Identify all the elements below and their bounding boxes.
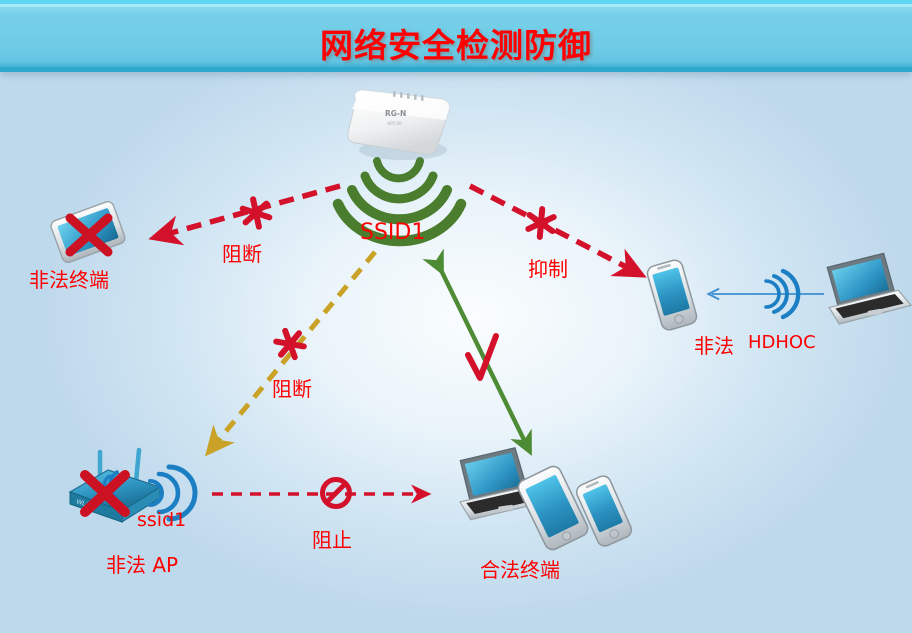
- node-label-illegal-terminal: 非法终端: [29, 264, 109, 293]
- link-adhoc: [712, 271, 824, 317]
- red-check-icon: [468, 336, 496, 378]
- node-label-rogue-ssid: ssid1: [137, 509, 186, 531]
- red-asterisk-icon: [528, 209, 553, 237]
- blue-wifi-arcs-icon: [766, 271, 798, 317]
- central-ap-icon: RG-N AP530: [348, 90, 450, 160]
- svg-text:RG-N: RG-N: [385, 109, 406, 118]
- illegal-adhoc-phone-icon: [646, 258, 699, 331]
- node-label-adhoc-name: HDHOC: [748, 332, 816, 353]
- red-x-icon: [85, 475, 125, 512]
- node-label-legal-terminals: 合法终端: [480, 554, 560, 583]
- svg-text:AP530: AP530: [387, 121, 402, 127]
- link-allow-legal: [440, 268, 528, 448]
- diagram-vector-layer: RG-N AP530: [0, 0, 912, 633]
- adhoc-laptop-icon: [822, 250, 912, 325]
- link-block-terminal: [160, 186, 340, 236]
- link-label-block-lower-left: 阻断: [272, 373, 312, 402]
- red-x-icon: [70, 218, 108, 252]
- link-prevent-rogue-to-legal: [212, 480, 424, 507]
- red-asterisk-icon: [276, 331, 304, 357]
- illegal-terminal-icon: [49, 200, 126, 264]
- diagram-canvas: 网络安全检测防御: [0, 0, 912, 633]
- red-asterisk-icon: [243, 199, 270, 226]
- link-label-prevent-bottom: 阻止: [312, 524, 352, 553]
- node-label-illegal-adhoc: 非法: [694, 330, 734, 359]
- node-label-rogue-ap: 非法 AP: [106, 549, 178, 578]
- svg-text:WLAN: WLAN: [75, 498, 94, 510]
- link-block-rogue-ap: [212, 252, 375, 448]
- no-entry-sign-icon: [323, 480, 350, 507]
- link-label-suppress-right: 抑制: [528, 253, 568, 282]
- link-label-block-left: 阻断: [222, 238, 262, 267]
- central-ap-ssid-label: SSID1: [360, 220, 425, 245]
- legal-terminals-icon: [454, 445, 634, 552]
- page-header: 网络安全检测防御: [0, 0, 912, 72]
- page-title: 网络安全检测防御: [0, 19, 912, 67]
